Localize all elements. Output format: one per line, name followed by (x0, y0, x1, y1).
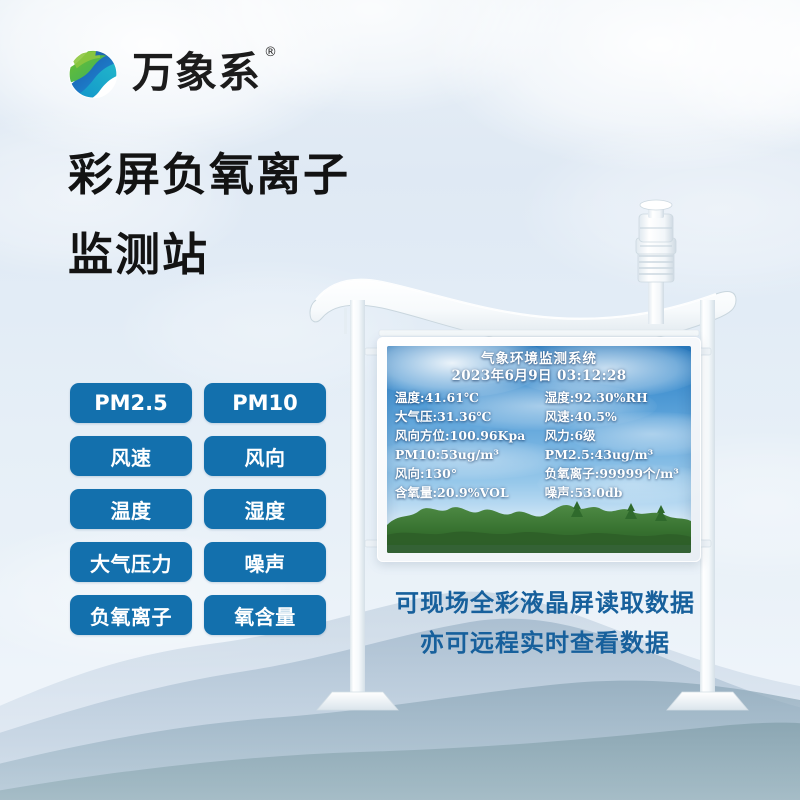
measurement-temperature: 温度:41.61℃ (394, 389, 545, 408)
measurement-negative-oxygen-ion: 负氧离子:99999个/m³ (545, 465, 684, 484)
measurement-row: 温度:41.61℃ 湿度:92.30%RH (394, 389, 684, 408)
promo-poster: 万象系 ® 彩屏负氧离子 监测站 PM2.5 PM10 风速 风向 温度 湿度 … (0, 0, 800, 800)
brand-logo: 万象系 ® (64, 44, 261, 102)
caption-block: 可现场全彩液晶屏读取数据 亦可远程实时查看数据 (380, 584, 710, 663)
screen-title: 气象环境监测系统 (394, 351, 684, 368)
globe-swoosh-logo-icon (64, 44, 122, 102)
measurement-wind-direction: 风向:130° (394, 465, 545, 484)
feature-tag[interactable]: 温度 (70, 489, 192, 529)
measurement-noise: 噪声:53.0db (545, 484, 684, 503)
caption-line1: 可现场全彩液晶屏读取数据 (380, 584, 710, 624)
measurement-pressure: 大气压:31.36℃ (394, 408, 545, 427)
measurement-wind-force: 风力:6级 (545, 427, 684, 446)
measurement-row: PM10:53ug/m³ PM2.5:43ug/m³ (394, 446, 684, 465)
registered-trademark-icon: ® (264, 46, 278, 59)
measurement-pm25: PM2.5:43ug/m³ (545, 446, 684, 465)
screen-datetime: 2023年6月9日 03:12:28 (394, 368, 684, 386)
measurement-row: 大气压:31.36℃ 风速:40.5% (394, 408, 684, 427)
feature-tag[interactable]: 大气压力 (70, 542, 192, 582)
feature-tag[interactable]: 湿度 (204, 489, 326, 529)
brand-name-label: 万象系 (132, 48, 261, 97)
screen-measurement-rows: 温度:41.61℃ 湿度:92.30%RH 大气压:31.36℃ 风速:40.5… (394, 389, 684, 502)
measurement-windspeed: 风速:40.5% (545, 408, 684, 427)
measurement-row: 含氧量:20.9%VOL 噪声:53.0db (394, 484, 684, 503)
feature-tag[interactable]: PM2.5 (70, 383, 192, 423)
measurement-row: 风向:130° 负氧离子:99999个/m³ (394, 465, 684, 484)
feature-tag[interactable]: 氧含量 (204, 595, 326, 635)
lcd-screen[interactable]: 气象环境监测系统 2023年6月9日 03:12:28 温度:41.61℃ 湿度… (387, 346, 691, 553)
brand-name-text: 万象系 ® (132, 52, 261, 94)
caption-line2: 亦可远程实时查看数据 (380, 624, 710, 664)
measurement-wind-bearing: 风向方位:100.96Kpa (394, 427, 545, 446)
page-title: 彩屏负氧离子 监测站 (68, 152, 350, 277)
measurement-oxygen-content: 含氧量:20.9%VOL (394, 484, 545, 503)
feature-tag[interactable]: 风速 (70, 436, 192, 476)
ultrasonic-weather-sensor-icon (636, 200, 676, 324)
lcd-display-panel[interactable]: 气象环境监测系统 2023年6月9日 03:12:28 温度:41.61℃ 湿度… (377, 337, 701, 562)
feature-tag-list: PM2.5 PM10 风速 风向 温度 湿度 大气压力 噪声 负氧离子 氧含量 (70, 383, 326, 635)
measurement-row: 风向方位:100.96Kpa 风力:6级 (394, 427, 684, 446)
page-title-line1: 彩屏负氧离子 (68, 148, 350, 201)
page-title-line2: 监测站 (68, 232, 350, 277)
feature-tag[interactable]: PM10 (204, 383, 326, 423)
feature-tag[interactable]: 负氧离子 (70, 595, 192, 635)
measurement-pm10: PM10:53ug/m³ (394, 446, 545, 465)
feature-tag[interactable]: 噪声 (204, 542, 326, 582)
feature-tag[interactable]: 风向 (204, 436, 326, 476)
measurement-humidity: 湿度:92.30%RH (545, 389, 684, 408)
screen-readout: 气象环境监测系统 2023年6月9日 03:12:28 温度:41.61℃ 湿度… (387, 346, 691, 553)
